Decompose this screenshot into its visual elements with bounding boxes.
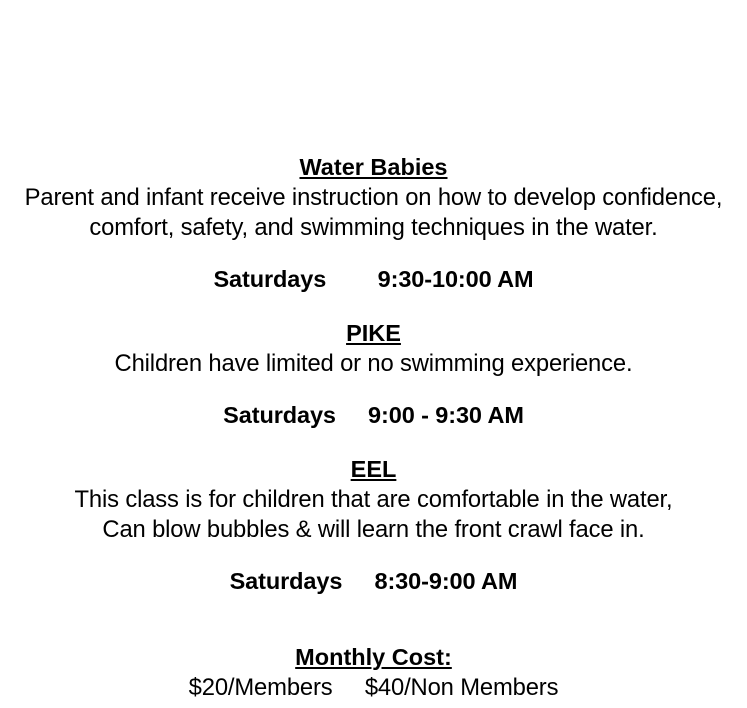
schedule-line-water-babies: Saturdays 9:30-10:00 AM [0,264,747,294]
section-description-line: Can blow bubbles & will learn the front … [0,515,747,545]
section-eel: EEL This class is for children that are … [0,454,747,596]
cost-prices-line: $20/Members $40/Non Members [0,673,747,703]
spacer [0,294,747,318]
section-description-line: Children have limited or no swimming exp… [0,349,747,379]
section-heading-eel-text: EEL [351,456,397,482]
section-heading-pike-text: PIKE [346,320,401,346]
schedule-line-pike: Saturdays 9:00 - 9:30 AM [0,400,747,430]
spacer [0,596,747,642]
section-description-line: comfort, safety, and swimming techniques… [0,213,747,243]
spacer [0,243,747,264]
section-monthly-cost: Monthly Cost: $20/Members $40/Non Member… [0,642,747,703]
cost-heading: Monthly Cost: [0,642,747,673]
section-heading-eel: EEL [0,454,747,485]
cost-heading-text: Monthly Cost: [295,644,452,670]
spacer [0,545,747,566]
section-heading-pike: PIKE [0,318,747,349]
schedule-line-eel: Saturdays 8:30-9:00 AM [0,566,747,596]
section-pike: PIKE Children have limited or no swimmin… [0,318,747,430]
document-page: Water Babies Parent and infant receive i… [0,0,747,708]
section-heading-water-babies: Water Babies [0,152,747,183]
spacer [0,379,747,400]
section-description-line: This class is for children that are comf… [0,485,747,515]
section-water-babies: Water Babies Parent and infant receive i… [0,152,747,294]
section-heading-water-babies-text: Water Babies [299,154,447,180]
spacer [0,430,747,454]
section-description-line: Parent and infant receive instruction on… [0,183,747,213]
